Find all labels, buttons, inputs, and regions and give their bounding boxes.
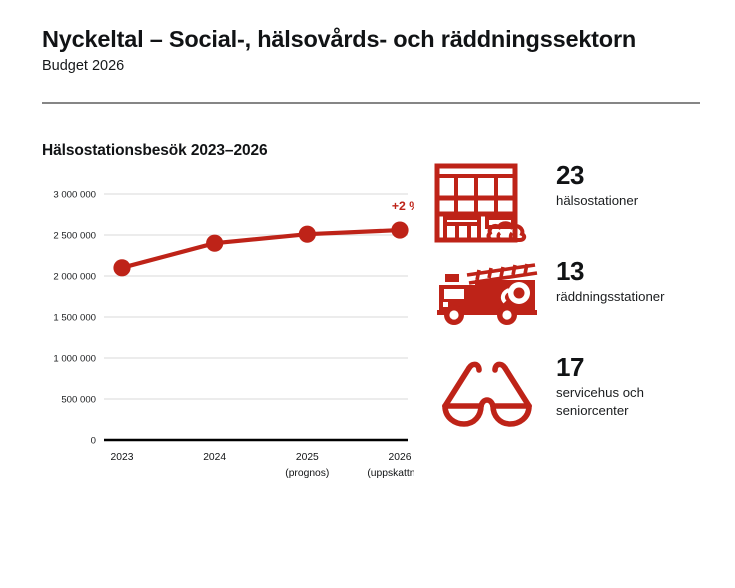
chart-annotations: +2 %	[392, 199, 414, 213]
chart-x-tick-label: 2026	[389, 452, 412, 463]
chart-annotation: +2 %	[392, 199, 414, 213]
stat-number: 17	[556, 354, 718, 381]
header-divider	[42, 102, 700, 104]
chart-data-point	[299, 226, 316, 243]
stat-label: servicehus och seniorcenter	[556, 384, 718, 419]
chart-x-tick-sublabel: (prognos)	[285, 468, 329, 479]
eyeglasses-icon	[428, 352, 546, 428]
stat-text: 17 servicehus och seniorcenter	[546, 352, 718, 419]
chart-y-tick-label: 500 000	[61, 395, 96, 406]
chart-data-point	[113, 259, 130, 276]
chart-y-tick-label: 1 500 000	[53, 313, 96, 324]
chart-x-tick-label: 2024	[203, 452, 226, 463]
chart-x-axis-labels: 202320242025(prognos)2026(uppskattning)	[111, 452, 414, 479]
fire-truck-icon	[428, 256, 546, 326]
chart-svg: 0500 0001 000 0001 500 0002 000 0002 500…	[42, 180, 414, 490]
chart-x-tick-sublabel: (uppskattning)	[367, 468, 414, 479]
chart-y-tick-label: 1 000 000	[53, 354, 96, 365]
chart-x-tick-label: 2023	[111, 452, 134, 463]
chart-y-tick-label: 0	[91, 436, 96, 447]
chart-data-point	[391, 221, 408, 238]
line-chart: 0500 0001 000 0001 500 0002 000 0002 500…	[42, 180, 414, 490]
stat-item-service-houses: 17 servicehus och seniorcenter	[428, 352, 718, 448]
stat-item-fire-stations: 13 räddningsstationer	[428, 256, 718, 352]
chart-title: Hälsostationsbesök 2023–2026	[42, 142, 414, 160]
stat-number: 13	[556, 258, 665, 285]
chart-plot-series	[113, 221, 408, 276]
chart-y-axis-labels: 0500 0001 000 0001 500 0002 000 0002 500…	[53, 190, 96, 447]
stat-text: 23 hälsostationer	[546, 160, 638, 210]
chart-series-line	[122, 230, 400, 268]
header: Nyckeltal – Social-, hälsovårds- och räd…	[42, 26, 702, 74]
stat-label: räddningsstationer	[556, 288, 665, 305]
infographic-page: Nyckeltal – Social-, hälsovårds- och räd…	[0, 0, 735, 588]
chart-y-tick-label: 2 500 000	[53, 231, 96, 242]
stat-text: 13 räddningsstationer	[546, 256, 665, 306]
page-subtitle: Budget 2026	[42, 58, 702, 74]
health-station-building-icon	[428, 160, 546, 244]
chart-y-tick-label: 2 000 000	[53, 272, 96, 283]
stat-number: 23	[556, 162, 638, 189]
page-title: Nyckeltal – Social-, hälsovårds- och räd…	[42, 26, 702, 53]
chart-x-tick-label: 2025	[296, 452, 319, 463]
chart-y-tick-label: 3 000 000	[53, 190, 96, 201]
chart-data-point	[206, 235, 223, 252]
stats-column: 23 hälsostationer	[428, 160, 718, 448]
stat-item-health-stations: 23 hälsostationer	[428, 160, 718, 256]
stat-label: hälsostationer	[556, 192, 638, 209]
chart-block: Hälsostationsbesök 2023–2026 0500 0001 0…	[42, 142, 414, 160]
